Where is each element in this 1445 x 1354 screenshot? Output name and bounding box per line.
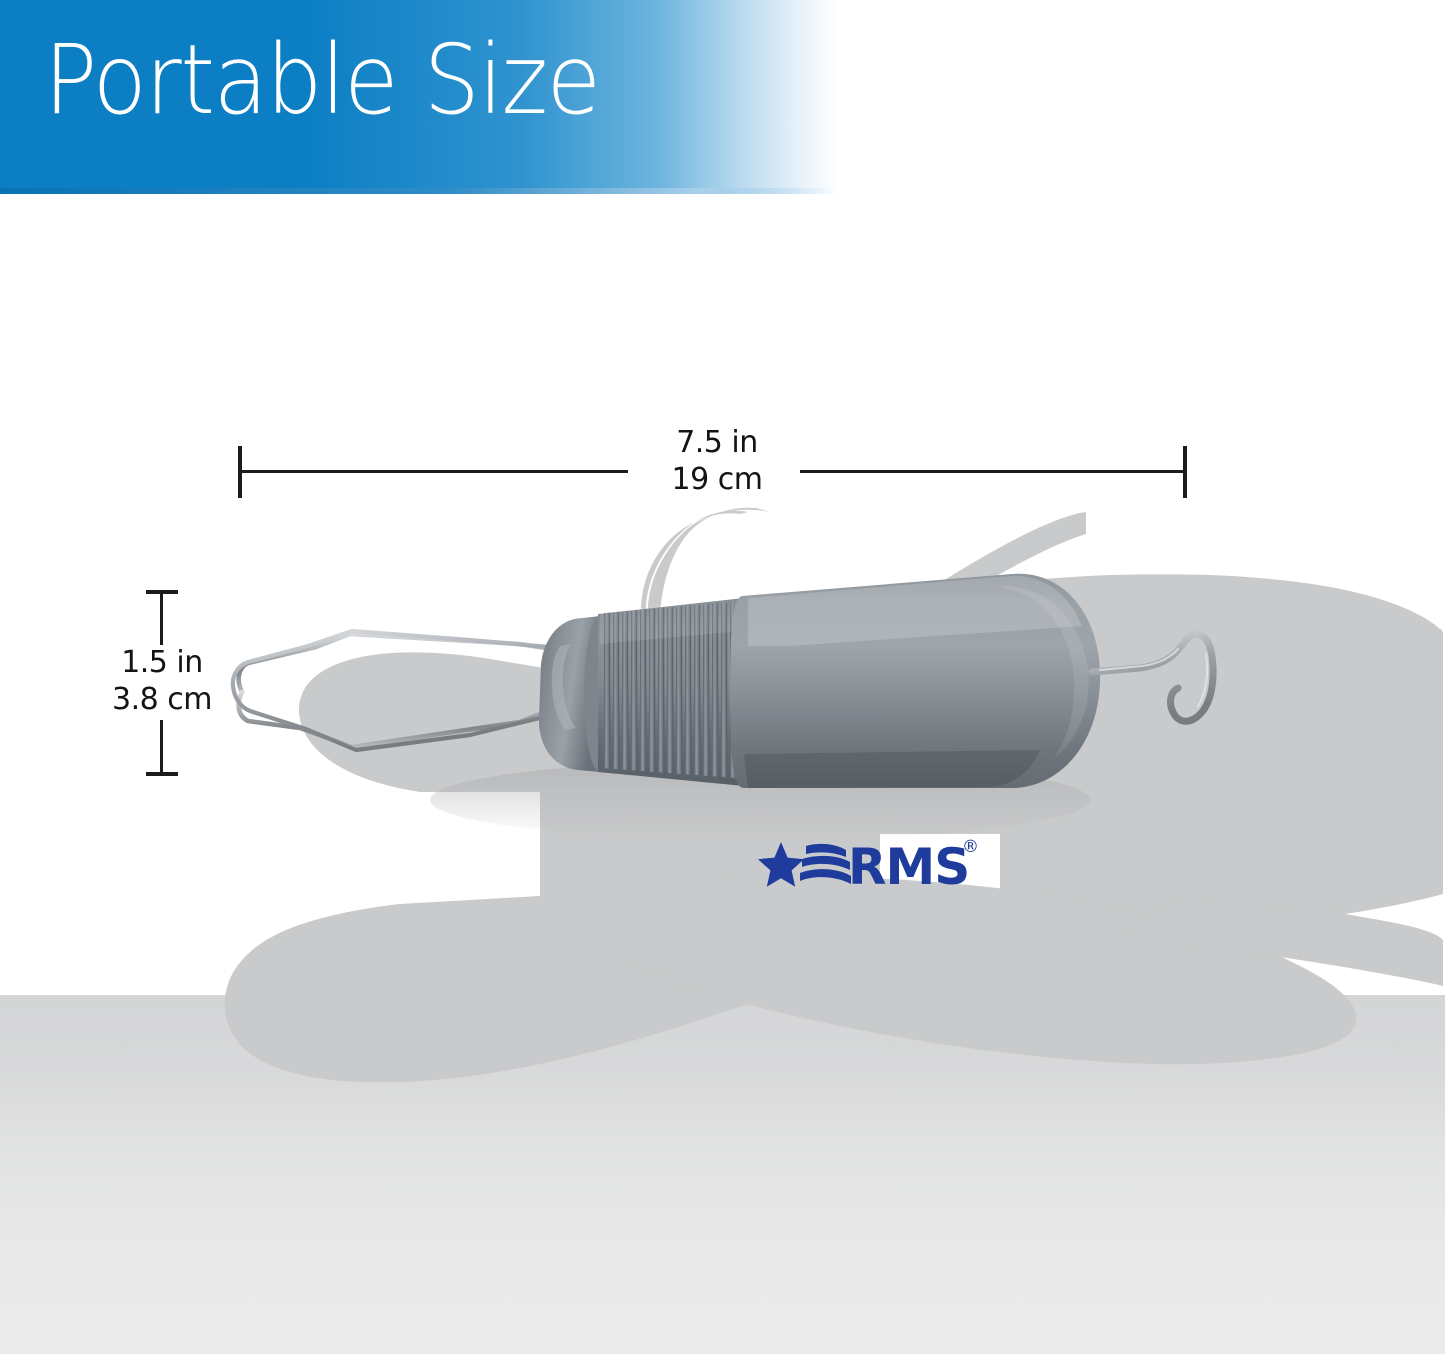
dimension-rule-right — [800, 470, 1186, 473]
dimension-cap-right — [1183, 446, 1187, 498]
tool-handle-body — [730, 574, 1100, 788]
product-image-canvas: Portable Size — [0, 0, 1445, 1354]
dimension-rule-top — [160, 594, 163, 645]
rms-wordmark: RMS — [848, 838, 969, 896]
dimension-rule-bottom — [160, 720, 163, 774]
product-photo-stage: RMS ® 7.5 in 19 cm — [0, 194, 1445, 1354]
page-title: Portable Size — [44, 32, 600, 128]
dimension-vertical-centimeters: 3.8 cm — [102, 681, 222, 718]
dimension-horizontal: 7.5 in 19 cm — [238, 440, 1188, 502]
dimension-horizontal-inches: 7.5 in — [633, 424, 801, 461]
dimension-cap-bottom — [146, 772, 178, 776]
dimension-horizontal-centimeters: 19 cm — [633, 461, 801, 498]
dimension-vertical-inches: 1.5 in — [102, 644, 222, 681]
dimension-rule-left — [240, 470, 628, 473]
header-banner: Portable Size — [0, 0, 1445, 194]
dimension-vertical: 1.5 in 3.8 cm — [132, 590, 252, 780]
registered-mark: ® — [962, 837, 979, 857]
